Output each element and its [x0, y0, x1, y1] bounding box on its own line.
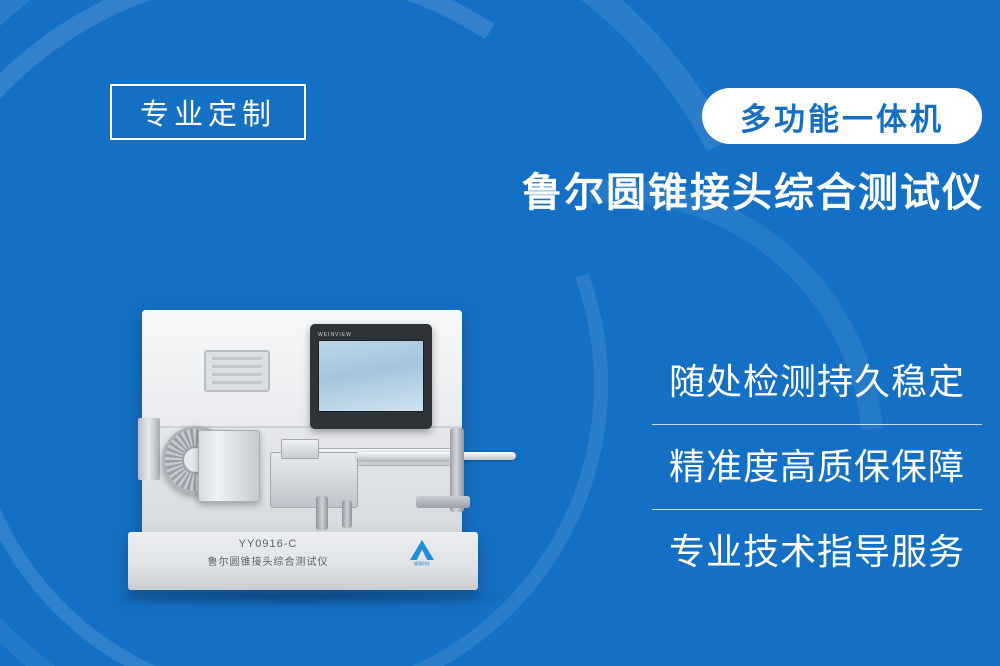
- machine-model-code: YY0916-C: [239, 538, 298, 550]
- machine-base: YY0916-C 鲁尔圆锥接头综合测试仪 威驰科技: [128, 532, 478, 590]
- feature-item: 精准度高质保保障: [652, 424, 982, 509]
- vent-grille-icon: [204, 350, 270, 392]
- custom-service-badge: 专业定制: [110, 84, 306, 140]
- product-category-pill: 多功能一体机: [702, 88, 982, 144]
- hmi-brand-label: WEINVIEW: [318, 332, 424, 338]
- test-rod: [356, 452, 516, 460]
- horizontal-arm: [416, 496, 470, 508]
- product-banner: 专业定制 多功能一体机 鲁尔圆锥接头综合测试仪 随处检测持久稳定 精准度高质保保…: [0, 0, 1000, 666]
- adjust-knob: [316, 496, 328, 530]
- feature-item: 随处检测持久稳定: [652, 340, 982, 424]
- product-category-label: 多功能一体机: [740, 94, 944, 139]
- logo-text: 威驰科技: [402, 561, 442, 567]
- custom-service-badge-label: 专业定制: [140, 91, 276, 133]
- product-photo: WEINVIEW YY0916-C 鲁尔圆锥接头综合测试仪 威驰科技: [120, 300, 560, 620]
- feature-item: 专业技术指导服务: [652, 509, 982, 594]
- machine-nameplate: YY0916-C 鲁尔圆锥接头综合测试仪: [128, 538, 408, 568]
- logo-mark-icon: [410, 540, 434, 560]
- manufacturer-logo: 威驰科技: [402, 540, 442, 567]
- hmi-touch-panel[interactable]: WEINVIEW: [310, 324, 432, 429]
- page-title: 鲁尔圆锥接头综合测试仪: [522, 160, 984, 218]
- machine-support-post: [138, 418, 160, 480]
- machine-model-name: 鲁尔圆锥接头综合测试仪: [128, 553, 408, 568]
- machine-top-panel: WEINVIEW: [142, 310, 462, 428]
- adjust-knob-secondary: [342, 500, 352, 528]
- feature-list: 随处检测持久稳定 精准度高质保保障 专业技术指导服务: [652, 340, 982, 594]
- drive-drum: [198, 430, 260, 502]
- hmi-screen[interactable]: [318, 340, 424, 412]
